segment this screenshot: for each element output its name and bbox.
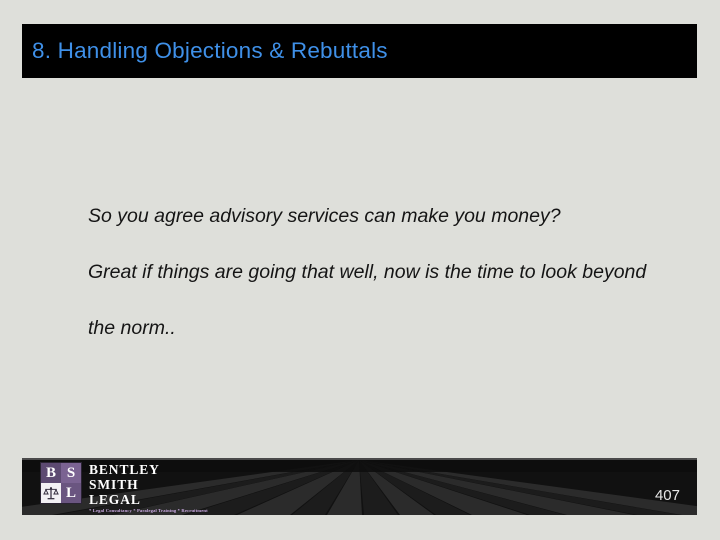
monogram-letter-l: L [61, 483, 81, 503]
monogram-letter-b: B [41, 463, 61, 483]
body-paragraph-2: Great if things are going that well, now… [88, 259, 688, 286]
footer-bar: B S L BENTLEY SMITH LEGAL [22, 458, 697, 515]
scales-of-justice-icon [41, 483, 61, 503]
logo-name-line-2: SMITH [89, 478, 208, 492]
page-title: 8. Handling Objections & Rebuttals [22, 38, 388, 64]
logo-monogram: B S L [40, 462, 82, 504]
company-logo: B S L BENTLEY SMITH LEGAL [40, 462, 208, 513]
body-paragraph-3: the norm.. [88, 315, 688, 342]
footer-top-divider [22, 458, 697, 460]
page-number: 407 [655, 487, 680, 504]
logo-name-line-1: BENTLEY [89, 463, 208, 477]
logo-wordmark: BENTLEY SMITH LEGAL * Legal Consultancy … [89, 462, 208, 513]
monogram-letter-s: S [61, 463, 81, 483]
logo-name-line-3: LEGAL [89, 493, 208, 507]
title-bar: 8. Handling Objections & Rebuttals [22, 24, 697, 78]
slide: 8. Handling Objections & Rebuttals So yo… [0, 0, 720, 540]
body-paragraph-1: So you agree advisory services can make … [88, 203, 688, 230]
logo-tagline: * Legal Consultancy * Paralegal Training… [89, 508, 208, 513]
body-content: So you agree advisory services can make … [88, 203, 688, 342]
